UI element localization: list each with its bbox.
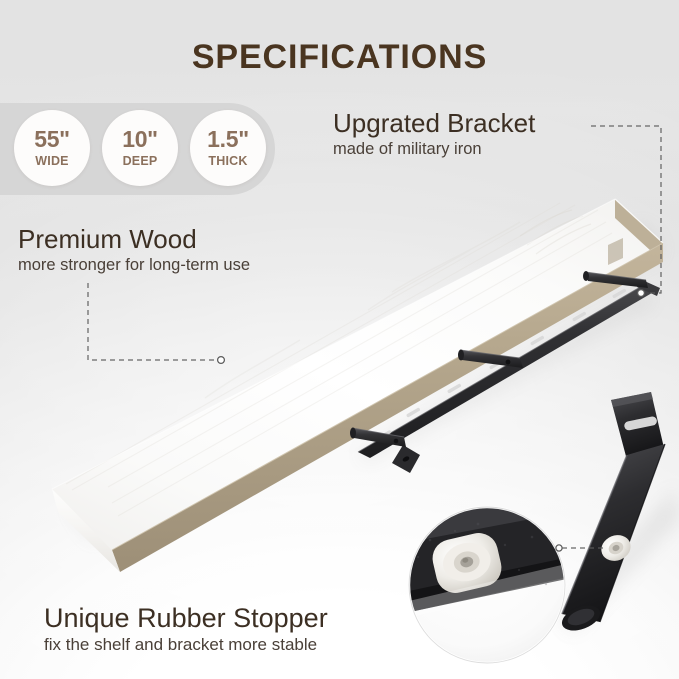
callout-wood: Premium Wood more stronger for long-term… xyxy=(18,226,250,276)
callout-stopper-heading: Unique Rubber Stopper xyxy=(44,604,328,632)
callout-wood-subheading: more stronger for long-term use xyxy=(18,256,250,276)
spec-badge-label: DEEP xyxy=(123,155,158,168)
rubber-stopper-magnifier xyxy=(395,485,604,663)
specification-infographic: SPECIFICATIONS 55" WIDE 10" DEEP 1.5" TH… xyxy=(0,0,679,679)
spec-badge-value: 55" xyxy=(34,128,70,151)
callout-wood-heading: Premium Wood xyxy=(18,226,250,253)
callout-stopper-subheading: fix the shelf and bracket more stable xyxy=(44,635,328,655)
page-title: SPECIFICATIONS xyxy=(0,38,679,77)
spec-badge-value: 10" xyxy=(122,128,158,151)
bracket-arm-closeup xyxy=(558,392,679,635)
spec-badge-width: 55" WIDE xyxy=(14,110,90,186)
spec-badge-depth: 10" DEEP xyxy=(102,110,178,186)
shelf-side-edge xyxy=(112,243,663,572)
spec-badge-value: 1.5" xyxy=(207,128,249,151)
spec-badge-group: 55" WIDE 10" DEEP 1.5" THICK xyxy=(14,110,266,186)
spec-badge-label: WIDE xyxy=(35,155,68,168)
callout-bracket-heading: Upgrated Bracket xyxy=(333,110,535,137)
callout-stopper: Unique Rubber Stopper fix the shelf and … xyxy=(44,604,328,656)
spec-badge-label: THICK xyxy=(208,155,247,168)
product-illustration xyxy=(0,0,679,679)
callout-bracket-subheading: made of military iron xyxy=(333,140,535,160)
callout-bracket: Upgrated Bracket made of military iron xyxy=(333,110,535,160)
spec-badge-thickness: 1.5" THICK xyxy=(190,110,266,186)
